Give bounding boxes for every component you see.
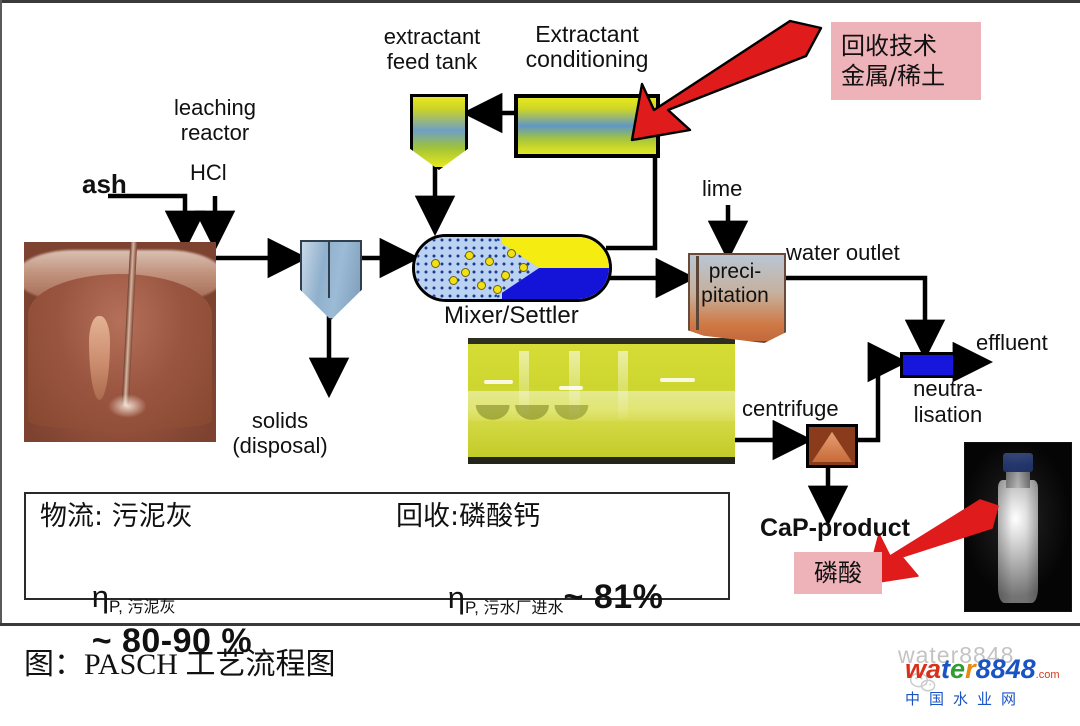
wechat-icon — [866, 644, 892, 666]
results-box: 物流: 污泥灰 ηP, 污泥灰 ~ 80-90 % 回收:磷酸钙 ηP, 污水厂… — [24, 492, 730, 600]
diagram-canvas: 回收技术 金属/稀土 磷酸 ash leaching reactor HCl s… — [0, 0, 1080, 710]
label-cap-product: CaP-product — [760, 516, 910, 541]
callout-phosphoric-line1: 磷酸 — [814, 558, 862, 588]
callout-recovery-line1: 回收技术 — [841, 31, 971, 61]
result-right-eta-symbol: η — [448, 580, 465, 615]
result-left-eta-sub-p: P, — [109, 597, 128, 616]
organic-recycle-line — [606, 148, 655, 248]
result-left-title: 物流: 污泥灰 — [40, 502, 193, 532]
centrifuge-unit — [806, 424, 858, 468]
logo-dotcom: .com — [1036, 669, 1060, 681]
site-logo-watermark: water8848.com 中国水业网 — [905, 655, 1075, 703]
neutralisation-unit — [900, 352, 956, 378]
logo-letter-e: e — [950, 654, 965, 684]
separator-centerline — [328, 242, 330, 298]
site-logo-wordmark: water8848.com — [905, 655, 1075, 689]
label-hcl: HCl — [190, 160, 227, 185]
mixer-settler-photo — [468, 338, 735, 464]
label-extractant-conditioning: Extractant conditioning — [512, 22, 662, 72]
result-right-eta-value: ~ 81% — [564, 578, 664, 616]
mixer-settler-unit — [412, 234, 612, 302]
result-right-eta-sub-p: P, — [465, 598, 484, 617]
logo-letter-a: a — [926, 654, 941, 684]
callout-recovery-line2: 金属/稀土 — [841, 61, 971, 91]
label-precipitation: preci- pitation — [690, 260, 780, 308]
result-left-eta-sub-cn: 污泥灰 — [128, 597, 176, 616]
site-logo-chinese: 中国水业网 — [905, 690, 1075, 708]
label-effluent: effluent — [976, 330, 1048, 355]
callout-recovery-technology: 回收技术 金属/稀土 — [831, 22, 981, 100]
label-mixer-settler: Mixer/Settler — [444, 303, 579, 328]
label-solids-disposal: solids (disposal) — [215, 408, 345, 458]
logo-letter-w: w — [905, 654, 926, 684]
result-right-eta: ηP, 污水厂进水~ 81% — [396, 546, 663, 659]
label-neutralisation: neutra- lisation — [890, 376, 1006, 428]
label-ash: ash — [82, 172, 127, 197]
result-right-eta-sub-cn: 污水厂进水 — [484, 598, 564, 617]
label-extractant-feed-tank: extractant feed tank — [362, 24, 502, 74]
label-water-outlet: water outlet — [786, 240, 900, 265]
label-leaching-reactor: leaching reactor — [160, 95, 270, 145]
logo-letter-r: r — [965, 654, 976, 684]
logo-letter-t: t — [941, 654, 950, 684]
label-lime: lime — [702, 176, 742, 201]
result-left-eta-symbol: η — [92, 579, 109, 614]
figure-caption: 图：PASCH 工艺流程图 — [24, 645, 335, 685]
callout-phosphoric-acid: 磷酸 — [794, 552, 882, 594]
label-centrifuge: centrifuge — [742, 396, 839, 421]
result-right-title: 回收:磷酸钙 — [396, 502, 540, 532]
logo-number: 8848 — [976, 654, 1036, 684]
leaching-reactor-photo — [24, 242, 216, 442]
